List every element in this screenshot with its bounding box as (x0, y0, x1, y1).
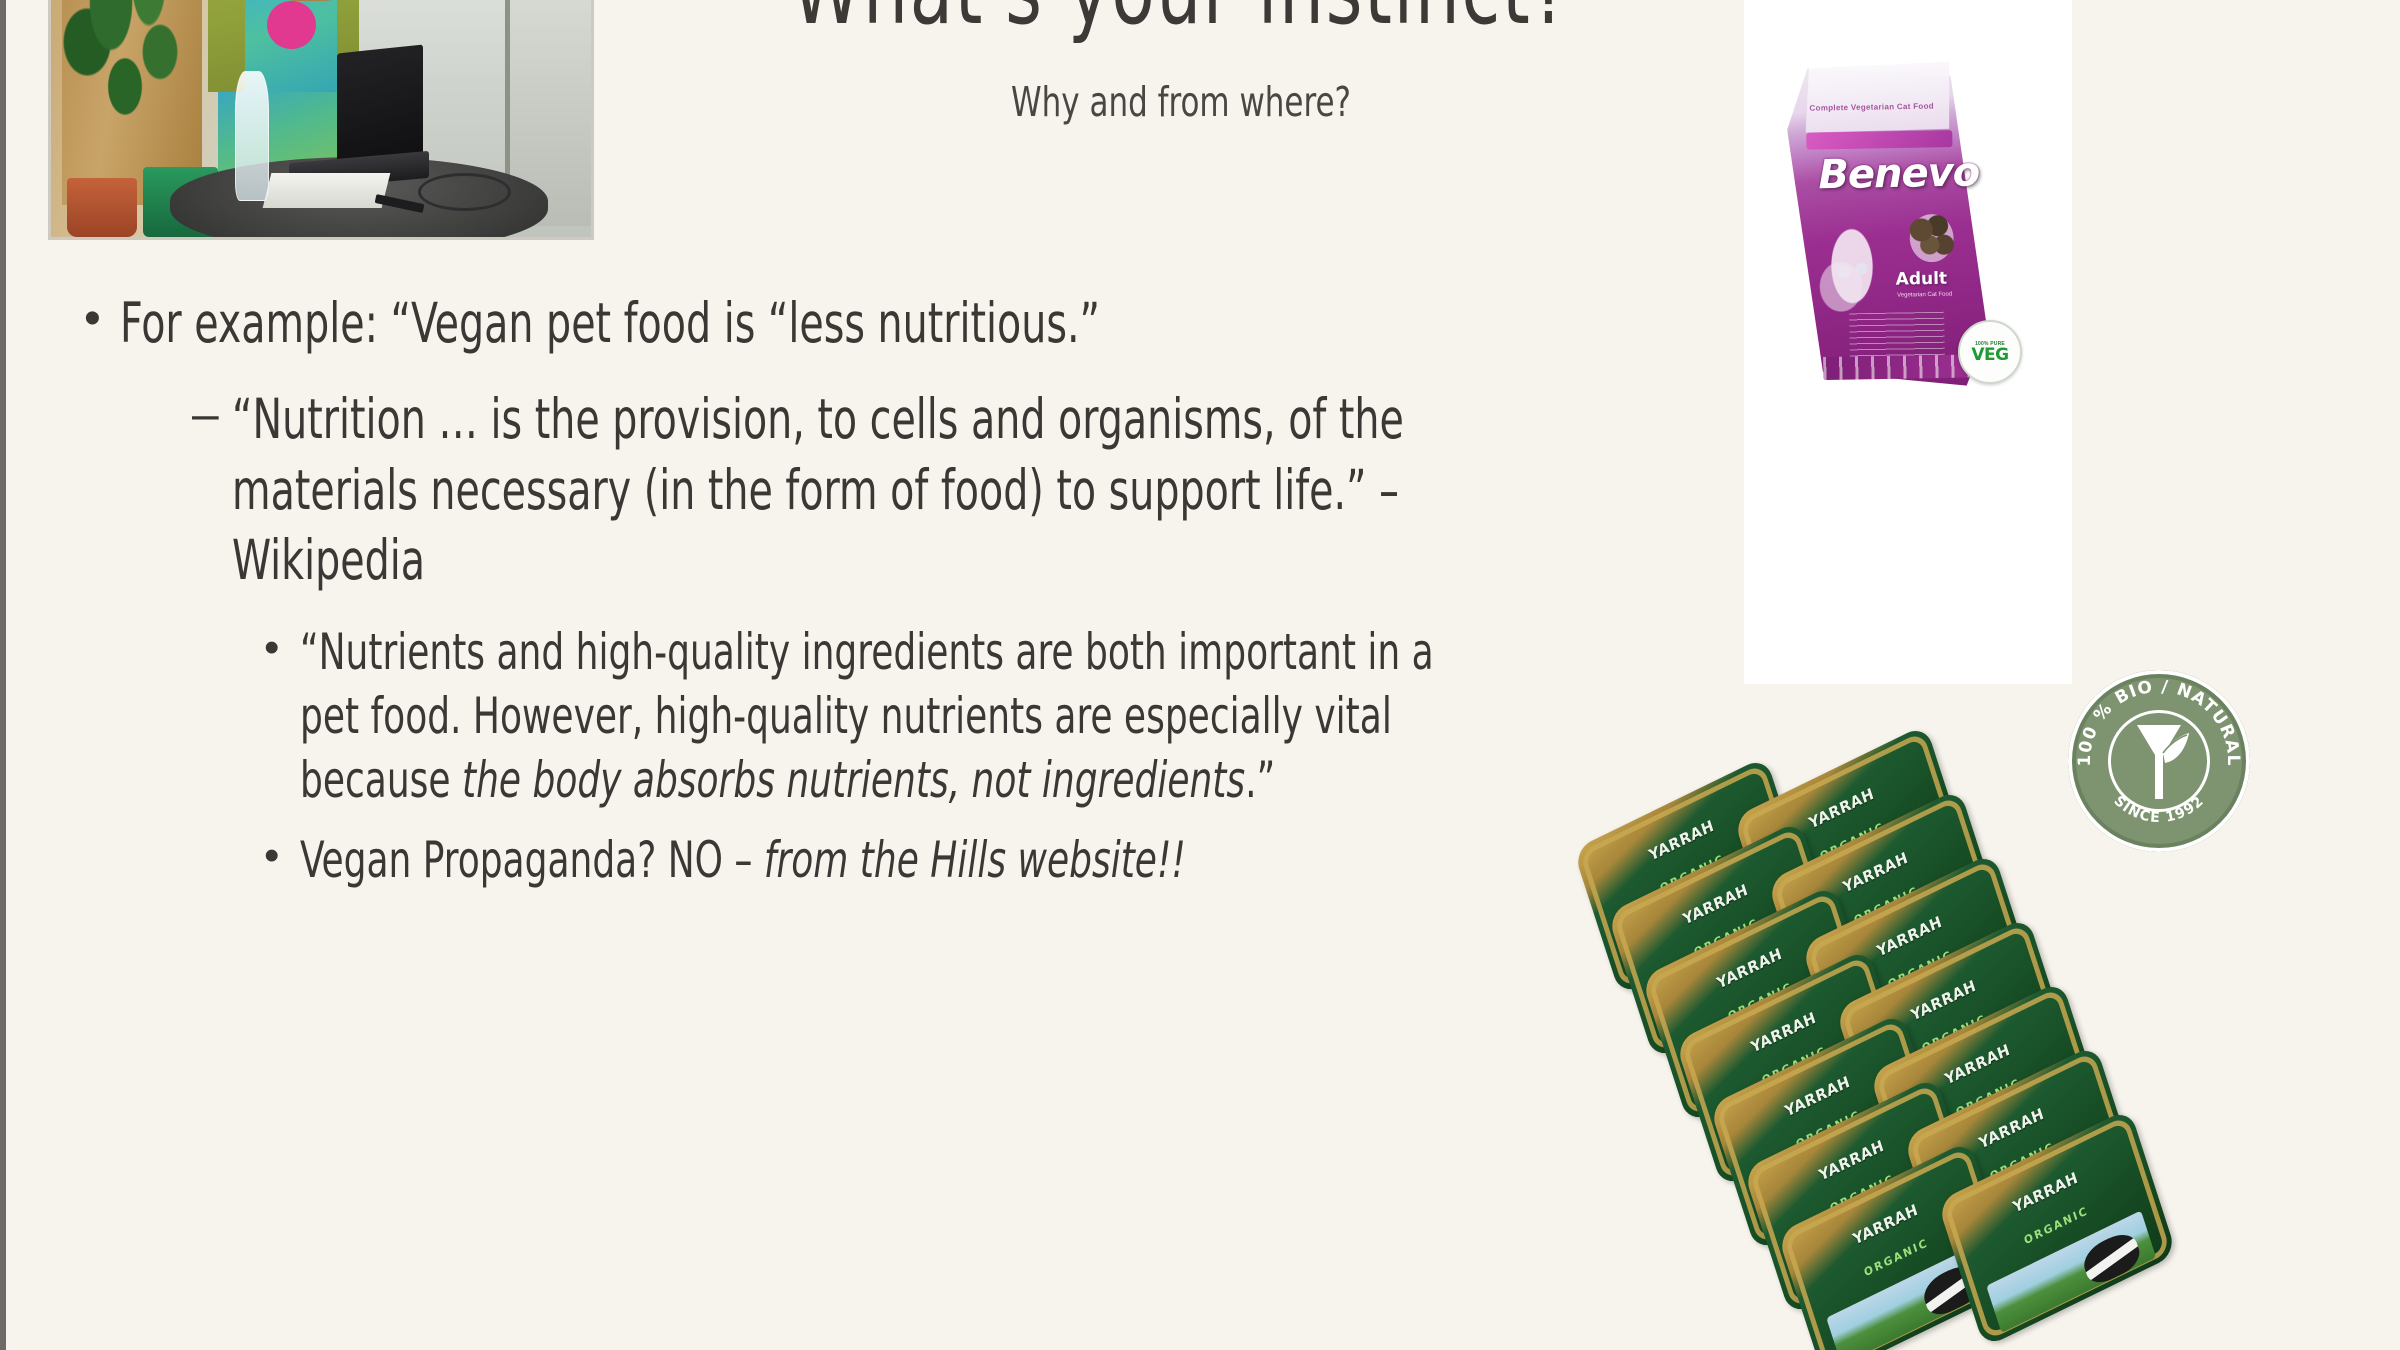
benevo-footer-icons (1823, 354, 1969, 380)
photo-terracotta-pot (67, 178, 137, 237)
benevo-top-line: Complete Vegetarian Cat Food (1809, 101, 1940, 112)
bullet-level1: • For example: “Vegan pet food is “less … (84, 288, 1724, 358)
title-block: What's your instinct? Why and from where… (626, 0, 1736, 126)
desk-photo (48, 0, 594, 240)
pure-veg-badge-big-text: VEG (1971, 347, 2008, 364)
bullet-level1-text: For example: “Vegan pet food is “less nu… (120, 288, 1724, 358)
bullet-level2-text-inner: “Nutrition … is the provision, to cells … (232, 384, 1426, 595)
bullet-level3b-before: Vegan Propaganda? NO – (300, 831, 764, 889)
benevo-bag-top (1800, 56, 1955, 141)
slide-title: What's your instinct? (726, 0, 1636, 38)
benevo-logo: Benevo (1818, 150, 1950, 198)
bio-seal-leaf-icon (2127, 719, 2191, 803)
bullet-level2-text: “Nutrition … is the provision, to cells … (232, 384, 1724, 595)
slide-subtitle: Why and from where? (715, 78, 1647, 126)
photo-glasses (418, 173, 510, 211)
bullet-marker-dot: • (84, 288, 120, 349)
bullet-level3a-italic: the body absorbs nutrients, not ingredie… (462, 751, 1245, 809)
bullet-marker-dot-small-2: • (264, 828, 300, 884)
bullet-marker-dot-small: • (264, 620, 300, 676)
slide-canvas: What's your instinct? Why and from where… (0, 0, 2400, 1350)
photo-papers (263, 173, 390, 208)
body-text: • For example: “Vegan pet food is “less … (84, 288, 1724, 908)
bullet-level2: – “Nutrition … is the provision, to cell… (192, 384, 1724, 595)
photo-water-bottle (235, 71, 269, 202)
benevo-footer-bar (1823, 354, 1969, 380)
bullet-level3-nutrients: • “Nutrients and high-quality ingredient… (264, 620, 1724, 812)
bullet-level3-propaganda: • Vegan Propaganda? NO – from the Hills … (264, 828, 1724, 892)
benevo-stripe (1806, 130, 1952, 149)
bullet-level1-text-inner: For example: “Vegan pet food is “less nu… (120, 288, 1100, 358)
dog-food-trays: YARRAH ORGANIC YARRAH ORGANIC YARRAH ORG… (1614, 810, 2134, 1350)
bullet-level3a-after: .” (1245, 751, 1275, 809)
photo-apron-logo (267, 1, 316, 49)
pure-veg-badge: 100% PURE VEG (1958, 320, 2022, 384)
bullet-level3b-italic: from the Hills website!! (764, 831, 1186, 889)
benevo-body-copy (1849, 312, 1944, 360)
bullet-level3-propaganda-text: Vegan Propaganda? NO – from the Hills we… (300, 828, 1724, 892)
bullet-marker-dash: – (192, 384, 232, 445)
bullet-level3-nutrients-text: “Nutrients and high-quality ingredients … (300, 620, 1724, 812)
benevo-product-panel: Complete Vegetarian Cat Food Benevo Adul… (1744, 0, 2072, 684)
benevo-variant: Adult (1895, 268, 1975, 289)
